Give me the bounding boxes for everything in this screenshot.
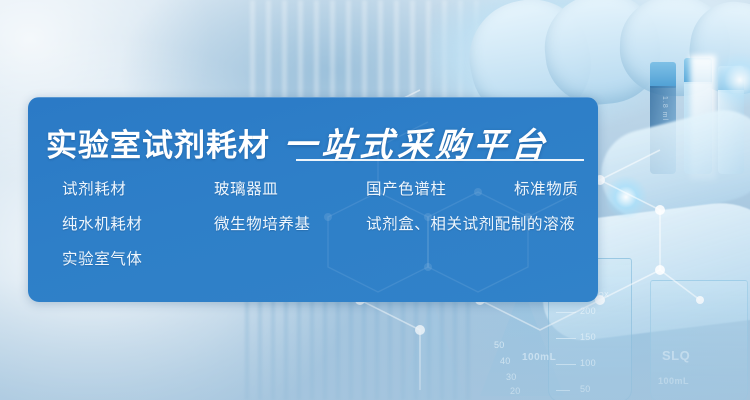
category-row: 实验室气体: [44, 247, 596, 282]
promo-panel: 实验室试剂耗材 一站式采购平台 试剂耗材 玻璃器皿 国产色谱柱 标准物质 纯水机…: [28, 97, 598, 302]
category-row: 纯水机耗材 微生物培养基 试剂盒、相关试剂配制的溶液: [44, 212, 596, 247]
category-item-lab-gas[interactable]: 实验室气体: [62, 247, 143, 269]
category-item-reference-material[interactable]: 标准物质: [514, 177, 578, 199]
category-list: 试剂耗材 玻璃器皿 国产色谱柱 标准物质 纯水机耗材 微生物培养基 试剂盒、相关…: [44, 177, 596, 282]
category-item-kits-solutions[interactable]: 试剂盒、相关试剂配制的溶液: [366, 212, 575, 234]
title-underline: [296, 159, 584, 161]
category-row: 试剂耗材 玻璃器皿 国产色谱柱 标准物质: [44, 177, 596, 212]
category-item-microbial-media[interactable]: 微生物培养基: [214, 212, 311, 234]
category-item-reagent-consumables[interactable]: 试剂耗材: [62, 177, 126, 199]
promo-banner: 1.8 ml 250 APPROX 200 150 100 50 50 40 3…: [0, 0, 750, 400]
category-item-domestic-column[interactable]: 国产色谱柱: [366, 177, 447, 199]
category-item-glassware[interactable]: 玻璃器皿: [214, 177, 278, 199]
page-title: 实验室试剂耗材: [46, 120, 270, 165]
category-item-water-purifier[interactable]: 纯水机耗材: [62, 212, 143, 234]
